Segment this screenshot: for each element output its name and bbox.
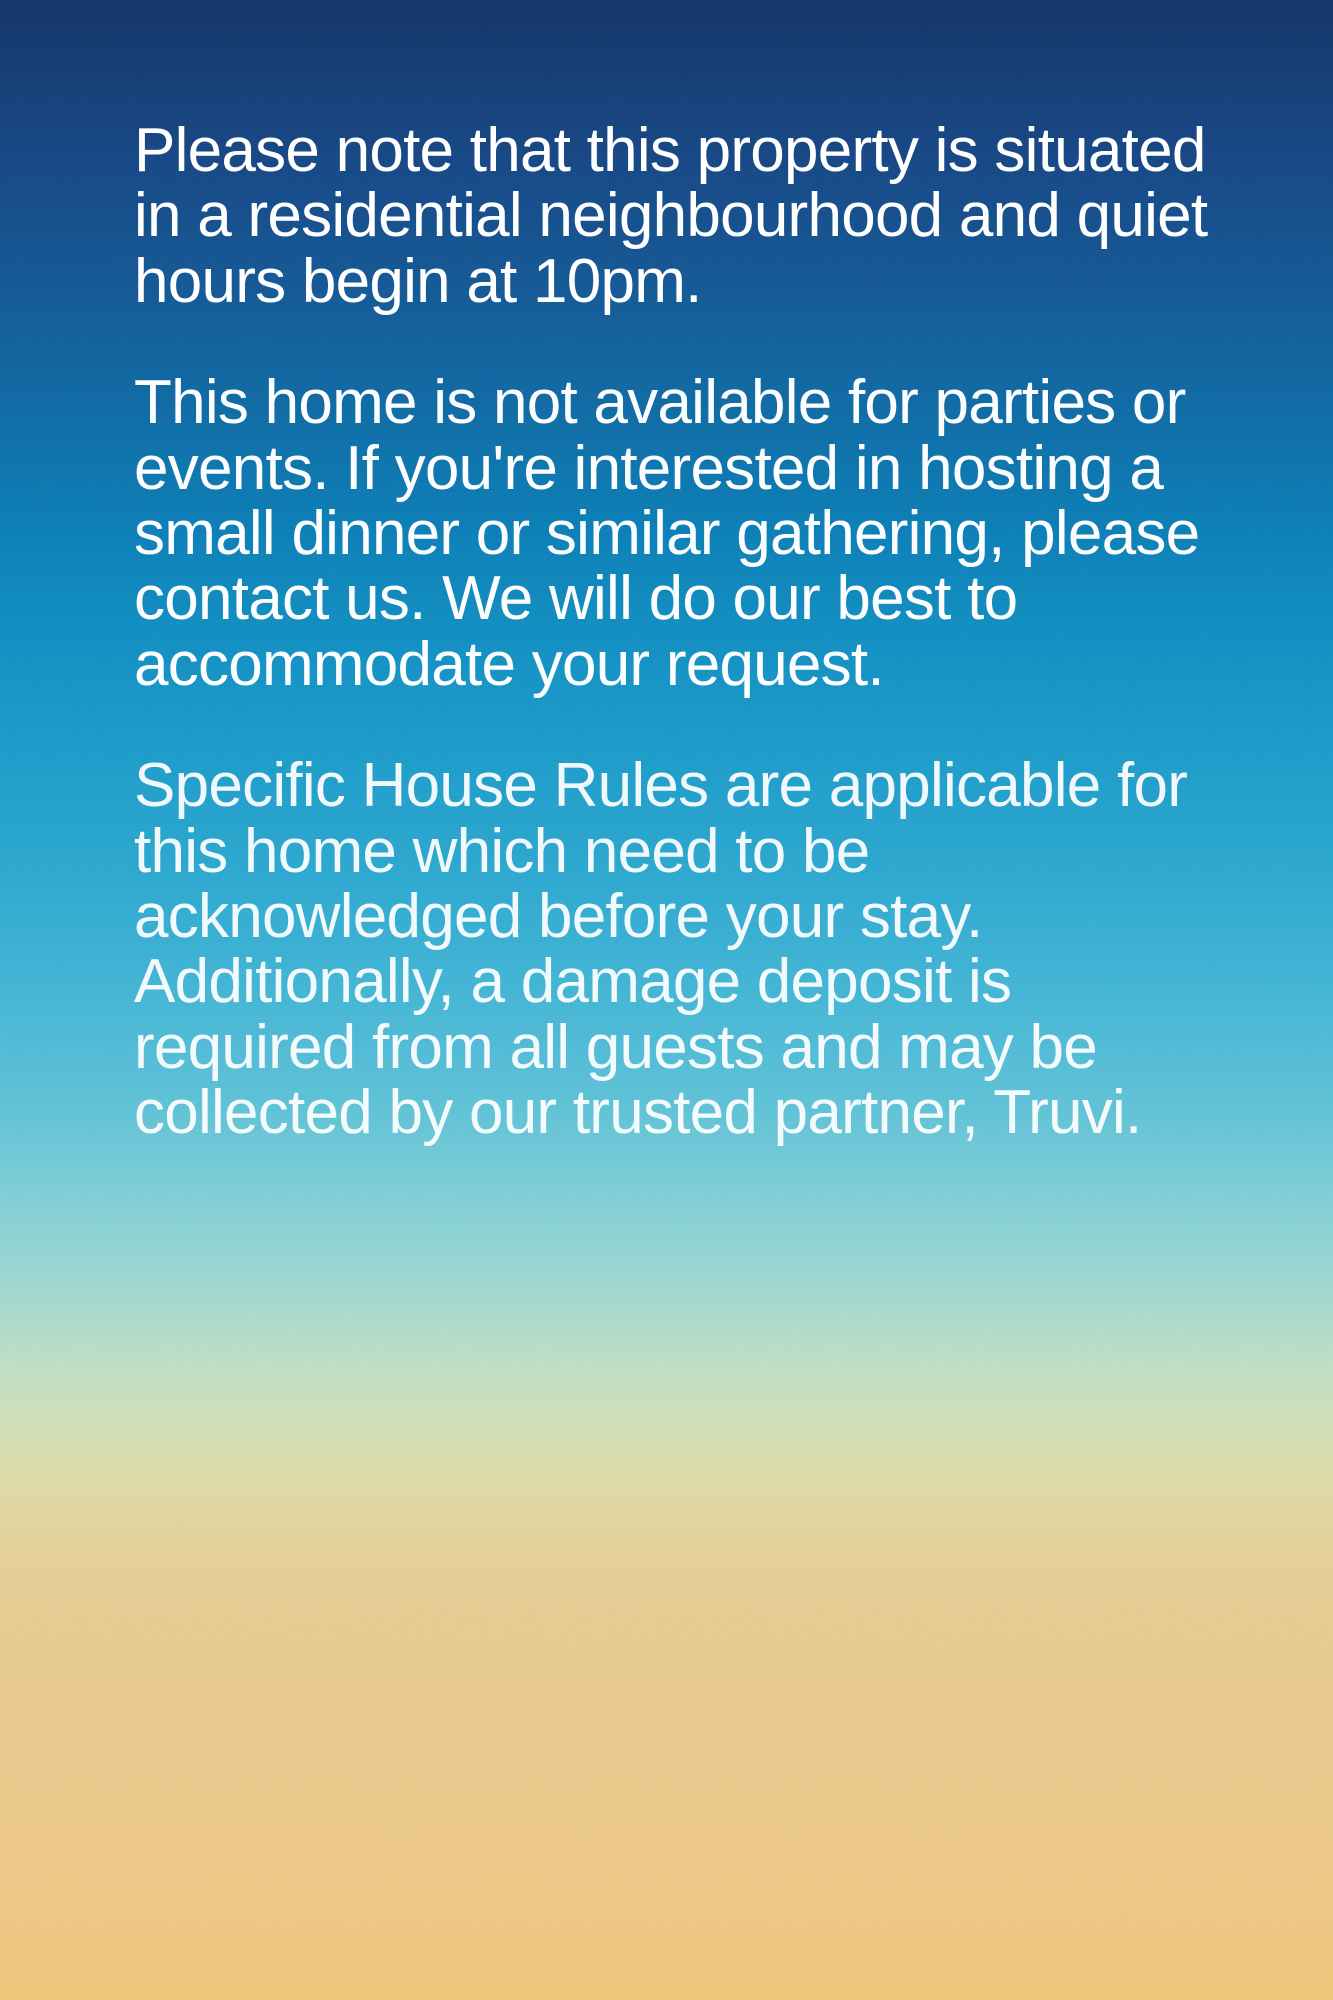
paragraph-quiet-hours: Please note that this property is situat… bbox=[134, 118, 1224, 314]
notice-text-block: Please note that this property is situat… bbox=[134, 118, 1224, 1146]
paragraph-house-rules-deposit: Specific House Rules are applicable for … bbox=[134, 753, 1224, 1145]
house-rules-slide: Please note that this property is situat… bbox=[0, 0, 1333, 2000]
paragraph-no-parties: This home is not available for parties o… bbox=[134, 370, 1224, 697]
